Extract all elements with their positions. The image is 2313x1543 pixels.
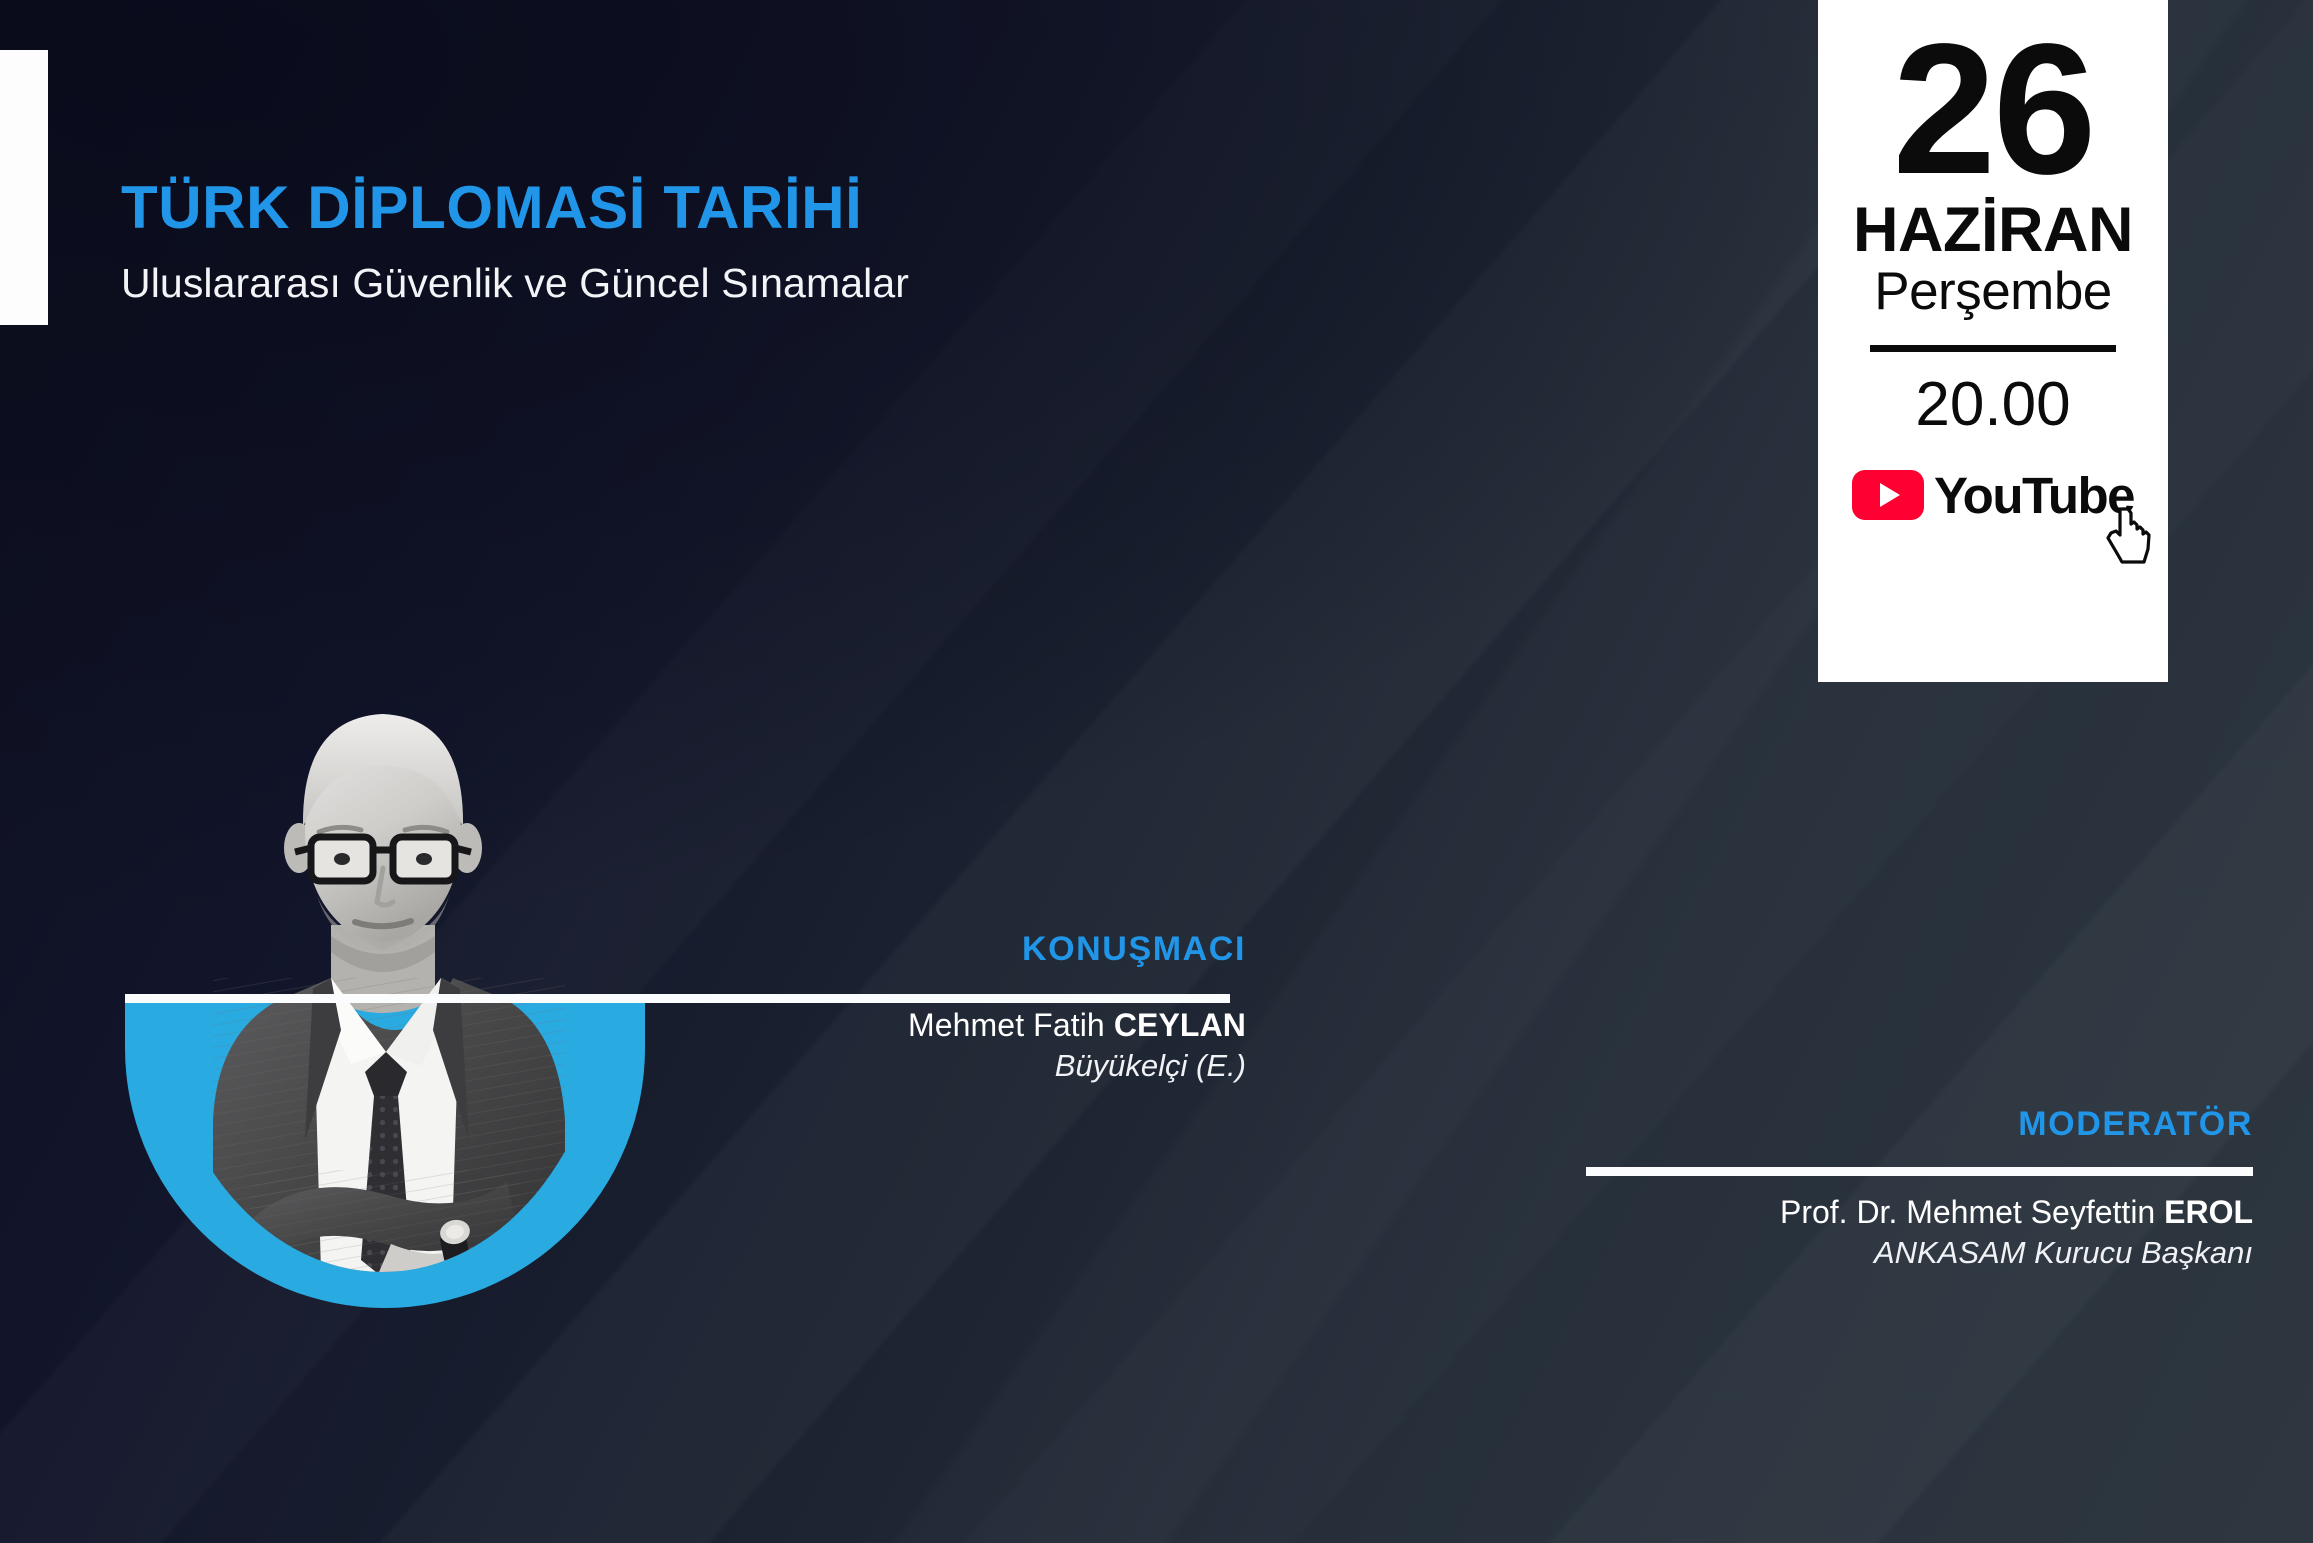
speaker-given-name: Mehmet Fatih — [908, 1007, 1114, 1043]
speaker-info-block: KONUŞMACI Mehmet Fatih CEYLAN Büyükelçi … — [786, 930, 1246, 1084]
moderator-job-title: ANKASAM Kurucu Başkanı — [1633, 1235, 2253, 1271]
moderator-surname: EROL — [2164, 1194, 2253, 1230]
speaker-photo — [155, 700, 610, 1272]
pointing-hand-cursor-icon — [2100, 505, 2158, 567]
speaker-surname: CEYLAN — [1114, 1007, 1246, 1043]
event-time: 20.00 — [1915, 374, 2070, 436]
headline-block: TÜRK DİPLOMASİ TARİHİ Uluslararası Güven… — [121, 178, 909, 307]
moderator-divider-line — [1586, 1167, 2253, 1176]
event-poster: TÜRK DİPLOMASİ TARİHİ Uluslararası Güven… — [0, 0, 2313, 1543]
speaker-divider-line — [125, 994, 1230, 1003]
moderator-info-block: MODERATÖR Prof. Dr. Mehmet Seyfettin ERO… — [1633, 1105, 2253, 1271]
date-time-card[interactable]: 26 HAZİRAN Perşembe 20.00 YouTube — [1818, 0, 2168, 682]
speaker-name: Mehmet Fatih CEYLAN — [786, 1007, 1246, 1044]
event-month: HAZİRAN — [1853, 199, 2133, 262]
speaker-job-title: Büyükelçi (E.) — [786, 1048, 1246, 1084]
page-subtitle: Uluslararası Güvenlik ve Güncel Sınamala… — [121, 260, 909, 307]
youtube-link[interactable]: YouTube — [1852, 466, 2134, 525]
moderator-name: Prof. Dr. Mehmet Seyfettin EROL — [1633, 1194, 2253, 1231]
event-weekday: Perşembe — [1874, 264, 2112, 320]
card-divider — [1870, 345, 2116, 352]
avatar — [155, 700, 610, 1272]
left-white-accent-bar — [0, 50, 48, 325]
speaker-portrait-group — [125, 700, 645, 1270]
event-day-number: 26 — [1893, 24, 2094, 195]
moderator-role-label: MODERATÖR — [1633, 1105, 2253, 1144]
speaker-role-label: KONUŞMACI — [786, 930, 1246, 969]
youtube-play-icon — [1852, 470, 1924, 520]
moderator-given-name: Prof. Dr. Mehmet Seyfettin — [1780, 1194, 2164, 1230]
page-title: TÜRK DİPLOMASİ TARİHİ — [121, 178, 909, 238]
